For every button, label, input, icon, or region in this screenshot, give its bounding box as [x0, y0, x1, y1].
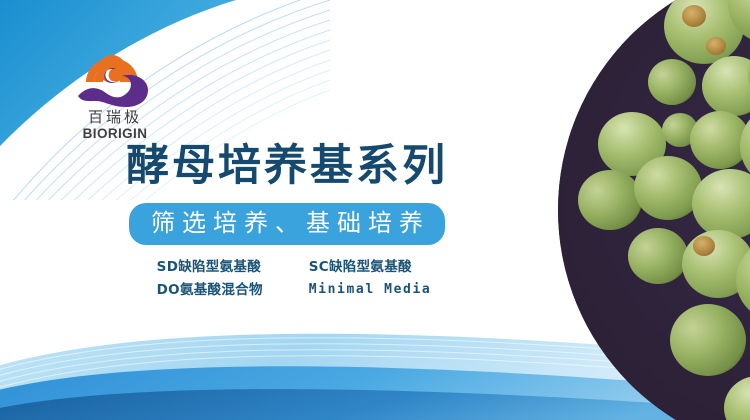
product-item: SD缺陷型氨基酸: [157, 258, 263, 278]
product-banner: 百瑞极 BIORIGIN 酵母培养基系列 筛选培养、基础培养 SD缺陷型氨基酸 …: [0, 0, 750, 420]
headline-block: 酵母培养基系列 筛选培养、基础培养: [0, 142, 560, 245]
product-item: Minimal Media: [309, 281, 432, 300]
biorigin-wave-sun-logo: [72, 52, 158, 108]
subtitle-badge: 筛选培养、基础培养: [129, 203, 445, 245]
company-logo: 百瑞极 BIORIGIN: [62, 52, 168, 142]
yeast-photo-circle: [558, 0, 750, 420]
logo-name-en: BIORIGIN: [62, 126, 168, 142]
subtitle-badge-label: 筛选培养、基础培养: [151, 208, 430, 238]
product-column-left: SD缺陷型氨基酸 DO氨基酸混合物: [157, 258, 263, 300]
product-list: SD缺陷型氨基酸 DO氨基酸混合物 SC缺陷型氨基酸 Minimal Media: [14, 258, 574, 300]
page-title: 酵母培养基系列: [14, 142, 560, 190]
product-column-right: SC缺陷型氨基酸 Minimal Media: [309, 258, 432, 300]
product-item: SC缺陷型氨基酸: [309, 258, 432, 278]
yeast-cells-micrograph: [558, 0, 750, 420]
logo-name-cn: 百瑞极: [62, 109, 168, 126]
product-item: DO氨基酸混合物: [157, 281, 263, 301]
